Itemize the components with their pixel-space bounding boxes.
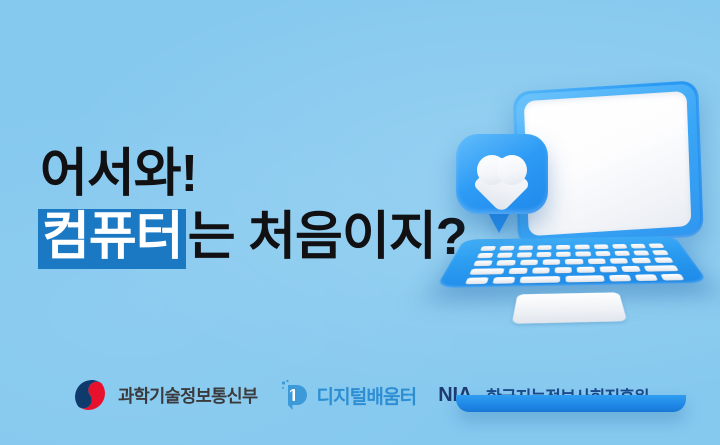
taegeuk-icon: [71, 376, 109, 414]
digital-baeumteo-icon: [280, 379, 308, 411]
laptop-base-front-edge: [456, 395, 686, 412]
logo-digital-baeumteo: 디지털배움터: [280, 379, 417, 411]
promo-banner: 어서와! 컴퓨터는 처음이지?: [0, 0, 720, 445]
keyboard-key: [630, 244, 646, 249]
heart-icon: [477, 155, 527, 199]
laptop-trackpad: [512, 292, 627, 324]
keyboard-key: [543, 259, 561, 265]
headline-line-2: 컴퓨터는 처음이지?: [38, 209, 458, 269]
keyboard-key: [609, 275, 632, 282]
keyboard-key: [632, 258, 652, 264]
headline-line-1: 어서와!: [38, 148, 458, 200]
keyboard-key: [537, 245, 551, 250]
logo-msit-label: 과학기술정보통신부: [118, 383, 257, 408]
keyboard-key: [499, 246, 515, 251]
logo-msit: 과학기술정보통신부: [71, 376, 257, 414]
heart-speech-bubble: [456, 134, 548, 214]
laptop-deck-surface: [425, 235, 719, 293]
keyboard-key: [465, 277, 489, 284]
heart-shape-lobe-right: [497, 155, 527, 185]
keyboard-key: [565, 275, 605, 282]
keyboard-key: [653, 257, 673, 263]
keyboard-key: [660, 274, 684, 281]
keyboard-key: [610, 258, 629, 264]
keyboard-key: [635, 274, 658, 281]
laptop-base: [446, 206, 698, 314]
keyboard-key: [520, 260, 539, 266]
keyboard-key: [492, 277, 515, 284]
keyboard-key: [519, 276, 559, 283]
keyboard-key: [587, 258, 606, 264]
keyboard-key: [577, 267, 595, 273]
logo-digital-baeumteo-label: 디지털배움터: [317, 382, 417, 409]
laptop-illustration: [444, 78, 712, 314]
headline-highlight-computer: 컴퓨터: [38, 209, 186, 269]
headline-block: 어서와! 컴퓨터는 처음이지?: [38, 148, 458, 269]
keyboard-key: [496, 260, 515, 266]
headline-line-2-rest: 는 처음이지?: [187, 211, 467, 263]
keyboard-key: [473, 260, 493, 266]
